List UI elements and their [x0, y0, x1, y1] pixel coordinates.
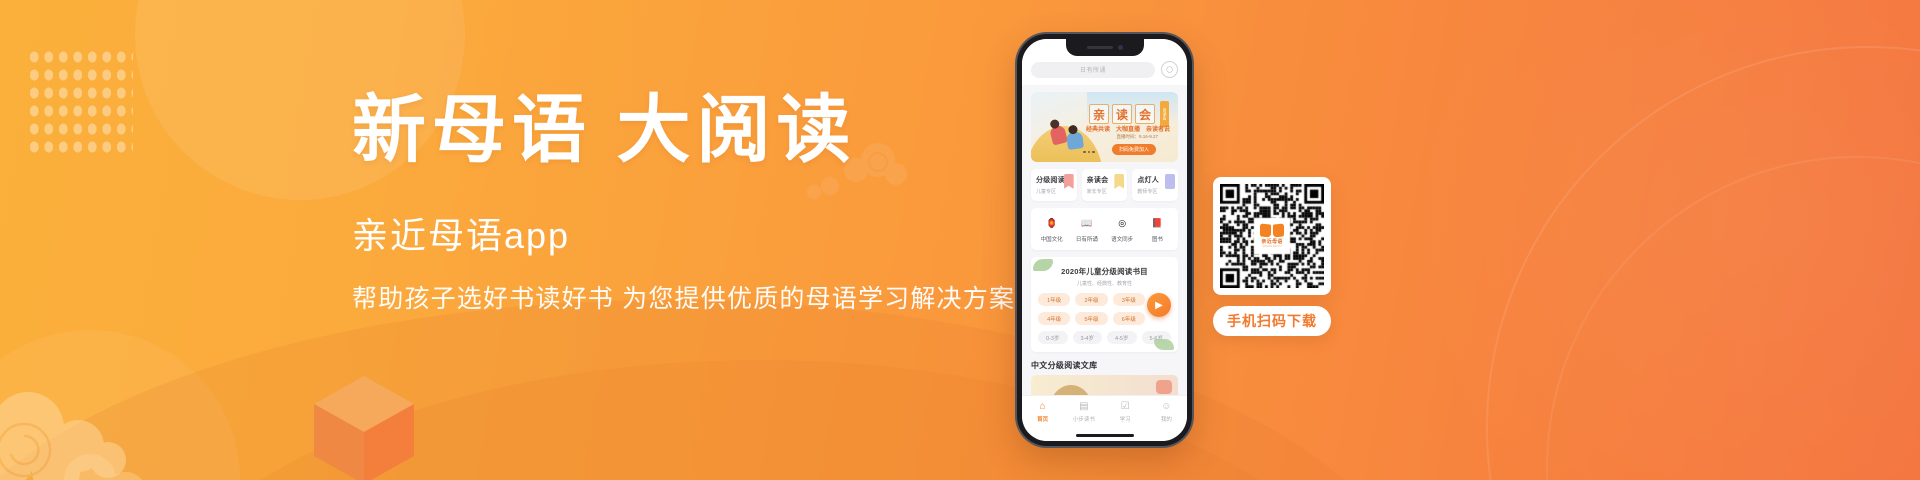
tab-label: 小步读书	[1063, 415, 1104, 423]
book-icon: 📕	[1150, 216, 1165, 231]
banner-join-button[interactable]: 扫码免费加入	[1112, 144, 1156, 155]
tab-label: 我的	[1146, 415, 1187, 423]
banner-feature: 亲读者说	[1146, 124, 1170, 133]
booklist-title: 2020年儿童分级阅读书目	[1038, 266, 1171, 277]
leaf-decor-2-icon	[1154, 339, 1174, 350]
entry-card-parent-club[interactable]: 亲读会 家长专区	[1082, 169, 1128, 201]
banner-title-char: 读	[1112, 104, 1132, 124]
open-book-logo-icon	[1260, 224, 1284, 237]
search-placeholder: 日有所诵	[1080, 65, 1106, 74]
download-button[interactable]: 手机扫码下载	[1213, 306, 1331, 336]
grade-pill[interactable]: 2年级	[1075, 293, 1107, 306]
bookmark-yellow-icon	[1114, 174, 1124, 189]
age-pill[interactable]: 0-3岁	[1038, 331, 1068, 344]
banner-title-char: 亲	[1089, 104, 1109, 124]
tab-label: 学习	[1105, 415, 1146, 423]
sync-icon: ◎	[1115, 216, 1130, 231]
grade-pill[interactable]: 1年级	[1038, 293, 1070, 306]
entry-card-row: 分级阅读 儿童专区 亲读会 家长专区 点灯人 教师专区	[1031, 169, 1178, 201]
decor-cloud-icon	[0, 386, 156, 480]
speaker-icon	[1087, 46, 1113, 49]
open-book-icon: 📖	[1079, 216, 1094, 231]
qr-block: 亲近母语 QINJIN MUYU 手机扫码下载	[1213, 177, 1331, 336]
booklist-subtitle: 儿童性、经典性、教育性	[1038, 280, 1171, 287]
person-purple-icon	[1165, 174, 1175, 189]
quick-icon-books[interactable]: 📕 图书	[1140, 216, 1175, 243]
search-input[interactable]: 日有所诵	[1031, 62, 1155, 78]
download-button-label: 手机扫码下载	[1227, 311, 1317, 331]
home-indicator	[1076, 434, 1134, 437]
tab-study[interactable]: ☑ 学习	[1105, 401, 1146, 423]
quick-icon-label: 中国文化	[1034, 235, 1069, 243]
profile-icon: ☺	[1146, 401, 1187, 413]
tab-label: 首页	[1022, 415, 1063, 423]
booklist-card[interactable]: 2020年儿童分级阅读书目 儿童性、经典性、教育性 1年级 2年级 3年级 4年…	[1031, 257, 1178, 352]
decor-circle-bottom-left	[0, 330, 240, 480]
grade-pill[interactable]: 3年级	[1113, 293, 1145, 306]
age-pill[interactable]: 4-5岁	[1107, 331, 1137, 344]
entry-card-subtitle: 家长专区	[1087, 188, 1123, 195]
decor-dot-grid	[27, 48, 133, 158]
video-play-icon[interactable]: ▶	[1147, 293, 1171, 317]
tagline: 帮助孩子选好书读好书 为您提供优质的母语学习解决方案	[352, 282, 1052, 317]
tab-home[interactable]: ⌂ 首页	[1022, 401, 1063, 423]
study-icon: ☑	[1105, 401, 1146, 413]
entry-card-teacher[interactable]: 点灯人 教师专区	[1132, 169, 1178, 201]
tab-reading[interactable]: ▤ 小步读书	[1063, 401, 1104, 423]
app-promo-banner[interactable]: 亲 读 会 亲读会 经典共读 大咖直播 亲读者说 直播时间：9.16-9.27 …	[1031, 92, 1178, 162]
quick-icon-row: 🏮 中国文化 📖 日有所诵 ◎ 语文同步 📕 图书	[1031, 208, 1178, 250]
grade-pill[interactable]: 4年级	[1038, 312, 1070, 325]
banner-title-char: 会	[1135, 104, 1155, 124]
entry-card-subtitle: 儿童专区	[1036, 188, 1072, 195]
decor-arc-bottom-2	[120, 360, 1400, 480]
quick-icon-label: 语文同步	[1105, 235, 1140, 243]
decor-cube-icon	[310, 372, 418, 480]
qr-card: 亲近母语 QINJIN MUYU	[1213, 177, 1331, 295]
qr-code: 亲近母语 QINJIN MUYU	[1220, 184, 1324, 288]
quick-icon-label: 日有所诵	[1069, 235, 1104, 243]
library-section-title: 中文分级阅读文库	[1031, 360, 1178, 371]
entry-card-graded-reading[interactable]: 分级阅读 儿童专区	[1031, 169, 1077, 201]
promo-banner: 新母语 大阅读 亲近母语app 帮助孩子选好书读好书 为您提供优质的母语学习解决…	[0, 0, 1920, 480]
subheadline: 亲近母语app	[352, 214, 1052, 257]
search-row: 日有所诵 ◯	[1031, 61, 1178, 78]
home-icon: ⌂	[1022, 401, 1063, 413]
decor-ring-right-1	[1486, 46, 1920, 480]
decor-cloud-2-icon	[60, 440, 180, 480]
decor-arc-bottom	[0, 300, 1420, 480]
quick-icon-recite[interactable]: 📖 日有所诵	[1069, 216, 1104, 243]
quick-icon-label: 图书	[1140, 235, 1175, 243]
qr-center-logo: 亲近母语 QINJIN MUYU	[1255, 219, 1289, 253]
banner-child-2	[1066, 131, 1084, 150]
banner-feature: 大咖直播	[1116, 124, 1140, 133]
age-pill[interactable]: 3-4岁	[1073, 331, 1103, 344]
age-row: 0-3岁 3-4岁 4-5岁 5-6岁	[1038, 331, 1171, 344]
banner-feature: 经典共读	[1086, 124, 1110, 133]
phone-screen: 日有所诵 ◯ 亲 读 会 亲读会 经典共读 大咖直播	[1022, 39, 1187, 441]
grade-pill[interactable]: 5年级	[1075, 312, 1107, 325]
grade-pill[interactable]: 6年级	[1113, 312, 1145, 325]
banner-dots	[1083, 151, 1095, 154]
qr-logo-en: QINJIN MUYU	[1262, 245, 1281, 248]
bookmark-red-icon	[1064, 174, 1074, 189]
bottom-tab-bar: ⌂ 首页 ▤ 小步读书 ☑ 学习 ☺ 我的	[1022, 395, 1187, 441]
library-thumb-decor	[1156, 380, 1172, 394]
phone-notch	[1066, 39, 1144, 56]
headline: 新母语 大阅读	[352, 92, 1052, 170]
phone-mockup: 日有所诵 ◯ 亲 读 会 亲读会 经典共读 大咖直播	[1017, 34, 1192, 446]
camera-icon	[1118, 45, 1123, 50]
qr-logo-name: 亲近母语	[1261, 238, 1282, 245]
chat-icon[interactable]: ◯	[1161, 61, 1178, 78]
banner-time: 直播时间：9.16-9.27	[1116, 134, 1158, 140]
copy-block: 新母语 大阅读 亲近母语app 帮助孩子选好书读好书 为您提供优质的母语学习解决…	[352, 92, 1052, 317]
book-nav-icon: ▤	[1063, 401, 1104, 413]
tab-profile[interactable]: ☺ 我的	[1146, 401, 1187, 423]
entry-card-subtitle: 教师专区	[1137, 188, 1173, 195]
quick-icon-sync[interactable]: ◎ 语文同步	[1105, 216, 1140, 243]
decor-glow-right	[1380, 0, 1920, 480]
decor-ring-right-2	[1546, 156, 1920, 480]
lantern-icon: 🏮	[1044, 216, 1059, 231]
quick-icon-culture[interactable]: 🏮 中国文化	[1034, 216, 1069, 243]
banner-features: 经典共读 大咖直播 亲读者说	[1086, 124, 1170, 133]
